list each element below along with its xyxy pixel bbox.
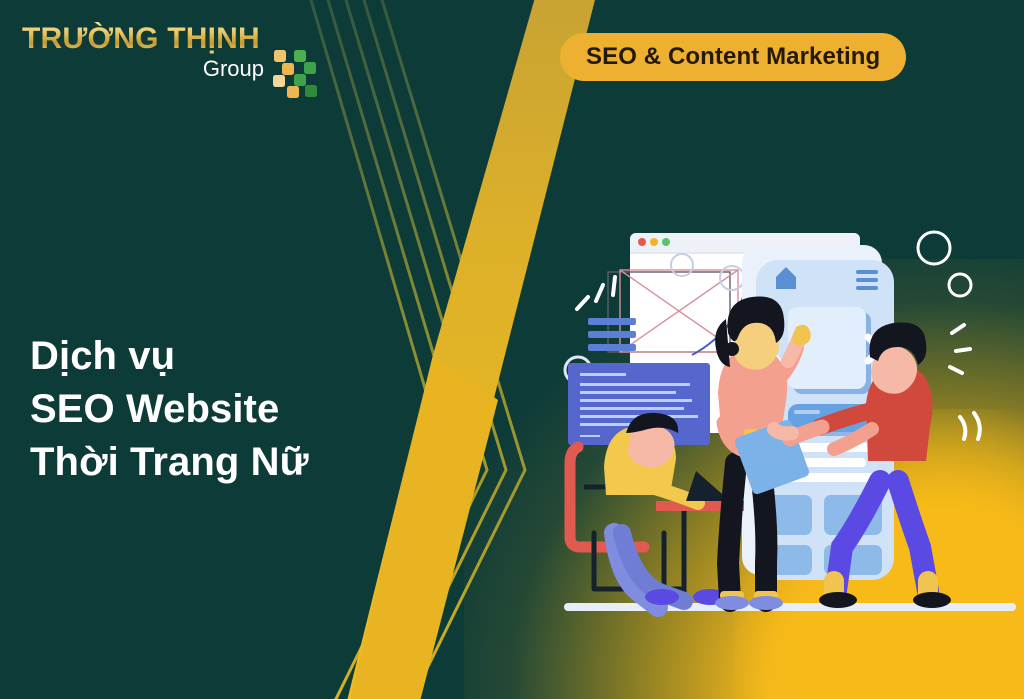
headline-line-3: Thời Trang Nữ — [30, 436, 460, 489]
web-design-team-illustration — [560, 215, 1024, 635]
category-badge[interactable]: SEO & Content Marketing — [560, 33, 906, 81]
hamburger-menu-icon — [856, 270, 878, 290]
brand-logo[interactable]: TRƯỜNG THỊNH Group — [22, 22, 322, 94]
browser-dot-yellow — [650, 238, 658, 246]
decorative-circle-large — [918, 232, 950, 264]
browser-dot-red — [638, 238, 646, 246]
ground-line — [564, 603, 1016, 611]
logo-submark: Group — [203, 56, 264, 82]
spark-lines — [577, 277, 615, 309]
headline-line-2: SEO Website — [30, 383, 460, 436]
browser-dot-green — [662, 238, 670, 246]
headline-line-1: Dịch vụ — [30, 330, 460, 383]
page-title: Dịch vụ SEO Website Thời Trang Nữ — [30, 330, 460, 489]
spark-lines-right — [950, 325, 970, 373]
decorative-circle-small — [949, 274, 971, 296]
seo-service-banner: TRƯỜNG THỊNH Group SEO & Content Marketi… — [0, 0, 1024, 699]
pixel-blocks-icon — [272, 48, 328, 104]
spark-lines-bottom-right — [960, 413, 980, 439]
wireframe-text-bars — [588, 318, 636, 351]
